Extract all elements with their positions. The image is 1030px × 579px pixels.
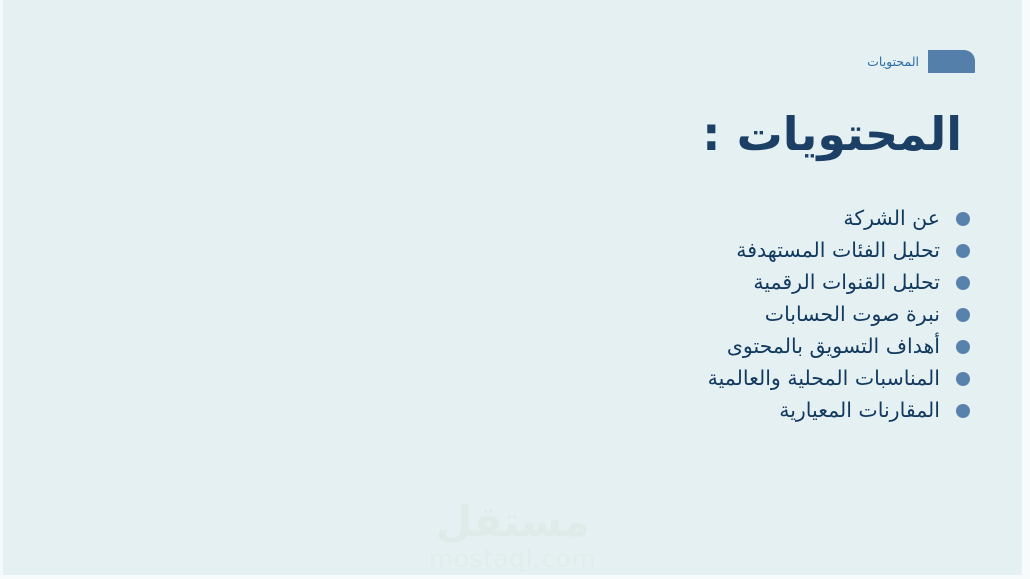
header-eyebrow-label: المحتويات bbox=[867, 50, 919, 73]
list-item[interactable]: نبرة صوت الحسابات bbox=[708, 302, 970, 327]
list-item[interactable]: أهداف التسويق بالمحتوى bbox=[708, 334, 970, 359]
bullet-icon bbox=[956, 340, 970, 354]
list-item-label: عن الشركة bbox=[843, 206, 940, 231]
presentation-slide: المحتويات المحتويات : عن الشركة تحليل ال… bbox=[0, 0, 1030, 579]
watermark-domain-text: mostaql.com bbox=[429, 545, 596, 572]
list-item-label: المقارنات المعيارية bbox=[779, 398, 940, 423]
tab-shape-icon bbox=[928, 50, 975, 73]
contents-list: عن الشركة تحليل الفئات المستهدفة تحليل ا… bbox=[708, 206, 970, 423]
list-item-label: أهداف التسويق بالمحتوى bbox=[727, 334, 940, 359]
bullet-icon bbox=[956, 372, 970, 386]
bullet-icon bbox=[956, 404, 970, 418]
slide-header-eyebrow: المحتويات bbox=[867, 50, 975, 73]
bullet-icon bbox=[956, 212, 970, 226]
list-item[interactable]: تحليل الفئات المستهدفة bbox=[708, 238, 970, 263]
bullet-icon bbox=[956, 308, 970, 322]
page-title: المحتويات : bbox=[702, 104, 962, 164]
list-item[interactable]: عن الشركة bbox=[708, 206, 970, 231]
list-item[interactable]: المناسبات المحلية والعالمية bbox=[708, 366, 970, 391]
list-item[interactable]: تحليل القنوات الرقمية bbox=[708, 270, 970, 295]
list-item[interactable]: المقارنات المعيارية bbox=[708, 398, 970, 423]
watermark: مستقل mostaql.com bbox=[429, 500, 596, 572]
list-item-label: تحليل الفئات المستهدفة bbox=[736, 238, 940, 263]
watermark-logo-text: مستقل bbox=[429, 500, 596, 544]
list-item-label: نبرة صوت الحسابات bbox=[765, 302, 940, 327]
bullet-icon bbox=[956, 276, 970, 290]
bullet-icon bbox=[956, 244, 970, 258]
list-item-label: المناسبات المحلية والعالمية bbox=[708, 366, 940, 391]
list-item-label: تحليل القنوات الرقمية bbox=[753, 270, 940, 295]
